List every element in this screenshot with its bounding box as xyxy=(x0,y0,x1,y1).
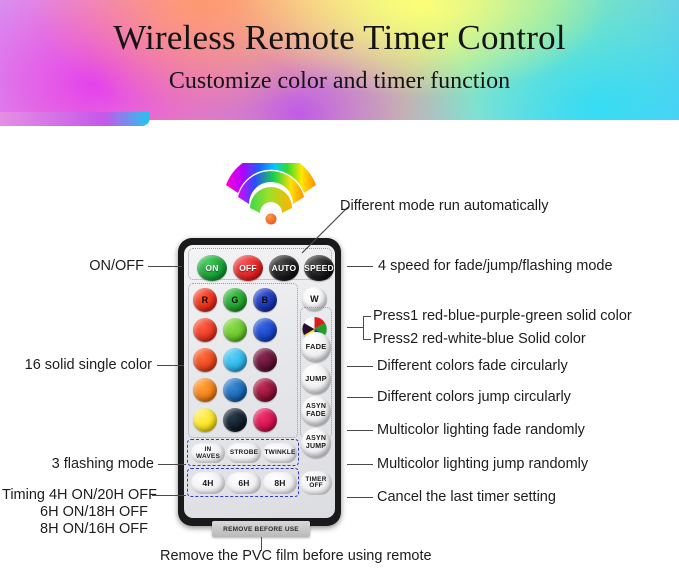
callout-on-off: ON/OFF xyxy=(40,258,144,276)
header-banner: Wireless Remote Timer Control Customize … xyxy=(0,0,679,120)
callout-timing-line3: 8H ON/16H OFF xyxy=(2,521,148,539)
callout-pvc: Remove the PVC film before using remote xyxy=(160,548,432,566)
strobe-button[interactable]: STROBE xyxy=(227,443,261,463)
callout-asyn-jump: Multicolor lighting jump randomly xyxy=(377,456,588,474)
color-button-lightgreen[interactable] xyxy=(223,318,247,342)
mode-buttons-group: FADE JUMP ASYN FADE ASYN JUMP xyxy=(300,307,332,438)
color-button-crimson[interactable] xyxy=(253,378,277,402)
pvc-film-tab: REMOVE BEFORE USE xyxy=(212,521,310,537)
auto-button[interactable]: AUTO xyxy=(269,255,299,281)
leader-line-press-vert xyxy=(363,316,364,339)
pvc-tab-label: REMOVE BEFORE USE xyxy=(223,526,299,533)
timer-buttons-group: 4H 6H 8H xyxy=(187,468,299,497)
callout-timing-line2: 6H ON/18H OFF xyxy=(2,504,148,522)
color-button-black[interactable] xyxy=(223,408,247,432)
leader-line-press2 xyxy=(363,339,371,340)
remote-control: ON OFF AUTO SPEED R G B xyxy=(178,238,341,526)
color-button-orange[interactable] xyxy=(193,378,217,402)
timer-off-button[interactable]: TIMER OFF xyxy=(300,471,332,495)
color-button-pink[interactable] xyxy=(253,408,277,432)
color-button-red2[interactable] xyxy=(193,318,217,342)
callout-timer-off: Cancel the last timer setting xyxy=(377,489,556,507)
callout-asyn-fade: Multicolor lighting fade randomly xyxy=(377,422,585,440)
timer-4h-button[interactable]: 4H xyxy=(191,472,225,494)
speed-button[interactable]: SPEED xyxy=(304,255,334,281)
leader-line-asyn-jump xyxy=(347,464,373,465)
callout-solid-colors: 16 solid single color xyxy=(10,357,152,375)
leader-line-speed xyxy=(347,266,373,267)
leader-line-multicolor xyxy=(347,327,363,328)
color-button-yellow[interactable] xyxy=(193,408,217,432)
leader-line-flashing xyxy=(158,464,186,465)
callout-press2: Press2 red-white-blue Solid color xyxy=(373,331,586,349)
asyn-jump-button[interactable]: ASYN JUMP xyxy=(301,428,331,458)
jump-button[interactable]: JUMP xyxy=(301,364,331,394)
color-button-cyan[interactable] xyxy=(223,348,247,372)
color-button-mediumblue[interactable] xyxy=(223,378,247,402)
twinkle-button[interactable]: TWINKLE xyxy=(263,443,297,463)
flashing-mode-group: IN WAVES STROBE TWINKLE xyxy=(187,439,299,466)
leader-line-timing xyxy=(152,495,186,496)
color-button-darkpurple[interactable] xyxy=(253,348,277,372)
page-title: Wireless Remote Timer Control xyxy=(0,18,679,58)
callout-speed: 4 speed for fade/jump/flashing mode xyxy=(378,258,613,276)
callout-press1: Press1 red-blue-purple-green solid color xyxy=(373,308,632,326)
asyn-fade-button[interactable]: ASYN FADE xyxy=(301,396,331,426)
timer-6h-button[interactable]: 6H xyxy=(227,472,261,494)
color-button-green[interactable]: G xyxy=(223,288,247,312)
leader-line-asyn-fade xyxy=(347,430,373,431)
in-waves-button[interactable]: IN WAVES xyxy=(191,443,225,463)
fade-button[interactable]: FADE xyxy=(301,332,331,362)
timer-8h-button[interactable]: 8H xyxy=(263,472,297,494)
callout-fade: Different colors fade circularly xyxy=(377,358,568,376)
color-button-red[interactable]: R xyxy=(193,288,217,312)
leader-line-solid-colors xyxy=(157,365,184,366)
off-button[interactable]: OFF xyxy=(233,255,263,281)
callout-jump: Different colors jump circularly xyxy=(377,389,571,407)
color-button-blue[interactable]: B xyxy=(253,288,277,312)
leader-line-press1 xyxy=(363,316,371,317)
color-button-blue2[interactable] xyxy=(253,318,277,342)
page-subtitle: Customize color and timer function xyxy=(0,68,679,95)
leader-line-timer-off xyxy=(347,497,373,498)
callout-timing-line1: Timing 4H ON/20H OFF xyxy=(2,487,148,505)
color-button-orangered[interactable] xyxy=(193,348,217,372)
leader-line-on-off xyxy=(148,266,182,267)
color-buttons-group: R G B xyxy=(188,283,298,438)
callout-auto-mode: Different mode run automatically xyxy=(340,198,548,216)
header-corner-strip xyxy=(0,112,150,126)
leader-line-fade xyxy=(347,366,373,367)
remote-faceplate: ON OFF AUTO SPEED R G B xyxy=(184,245,335,518)
leader-line-jump xyxy=(347,397,373,398)
on-button[interactable]: ON xyxy=(197,255,227,281)
callout-flashing: 3 flashing mode xyxy=(14,456,154,474)
